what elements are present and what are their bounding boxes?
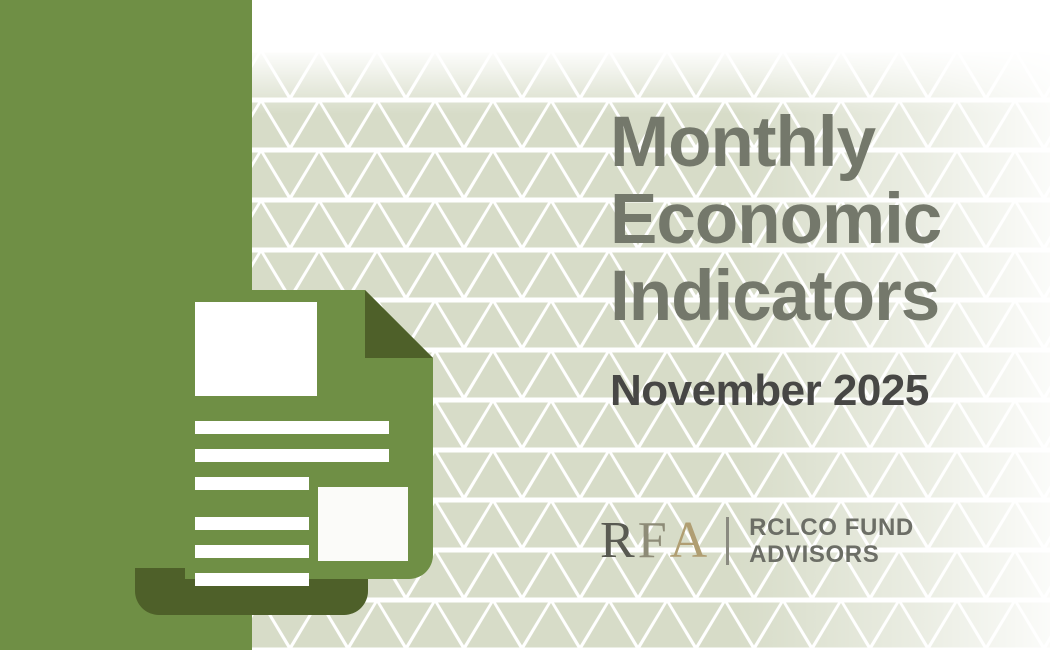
title-line-3: Indicators xyxy=(610,258,941,335)
monogram-letter-a: A xyxy=(670,515,711,567)
text-line-3 xyxy=(195,477,309,490)
rfa-logo: R F A RCLCO FUND ADVISORS xyxy=(600,514,914,568)
logo-wordmark-line-2: ADVISORS xyxy=(749,541,914,568)
logo-wordmark: RCLCO FUND ADVISORS xyxy=(749,514,914,568)
title-line-1: Monthly xyxy=(610,104,941,181)
headline-image-block xyxy=(195,302,317,396)
logo-divider xyxy=(726,517,729,565)
text-line-1 xyxy=(195,421,389,434)
cover-page: Monthly Economic Indicators November 202… xyxy=(0,0,1050,650)
newspaper-document-icon xyxy=(125,285,450,620)
title-line-2: Economic xyxy=(610,181,941,258)
text-line-5 xyxy=(195,545,309,558)
page-fold-corner xyxy=(365,290,433,358)
text-line-2 xyxy=(195,449,389,462)
monogram-letter-f: F xyxy=(638,515,670,567)
text-line-6 xyxy=(195,573,309,586)
inset-photo-block xyxy=(318,487,408,561)
title-block: Monthly Economic Indicators xyxy=(610,104,941,335)
monogram-letter-r: R xyxy=(600,515,638,567)
subtitle-date: November 2025 xyxy=(610,366,929,416)
logo-wordmark-line-1: RCLCO FUND xyxy=(749,514,914,541)
text-line-4 xyxy=(195,517,309,530)
rfa-monogram: R F A xyxy=(600,515,710,567)
